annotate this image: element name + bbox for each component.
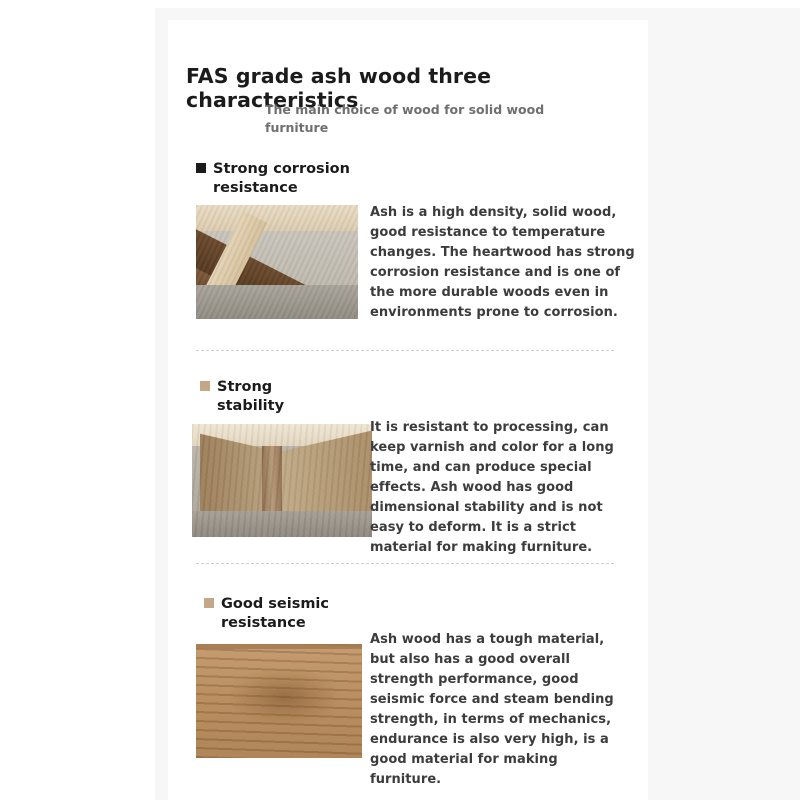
section-2-heading-row: Strong stability: [200, 378, 380, 416]
section-2-heading: Strong stability: [217, 378, 287, 416]
section-2-image: [192, 424, 372, 537]
section-3-image: [196, 644, 362, 758]
square-bullet-icon: [204, 598, 214, 608]
image-detail: [196, 205, 358, 319]
divider-1: [196, 350, 614, 351]
divider-2: [196, 563, 614, 564]
section-1-body: Ash is a high density, solid wood, good …: [370, 203, 642, 323]
section-3-heading-row: Good seismic resistance: [204, 595, 384, 633]
document-page: FAS grade ash wood three characteristics…: [0, 0, 800, 800]
image-detail: [192, 424, 372, 537]
section-3-heading: Good seismic resistance: [221, 595, 331, 633]
page-subtitle: The main choice of wood for solid wood f…: [265, 101, 565, 137]
square-bullet-icon: [200, 381, 210, 391]
square-bullet-icon: [196, 163, 206, 173]
section-1-image: [196, 205, 358, 319]
section-2-body: It is resistant to processing, can keep …: [370, 418, 632, 558]
image-detail: [196, 644, 362, 649]
section-1-heading: Strong corrosion resistance: [213, 160, 363, 198]
section-1-heading-row: Strong corrosion resistance: [196, 160, 386, 198]
image-detail: [230, 668, 340, 726]
section-3-body: Ash wood has a tough material, but also …: [370, 630, 632, 790]
